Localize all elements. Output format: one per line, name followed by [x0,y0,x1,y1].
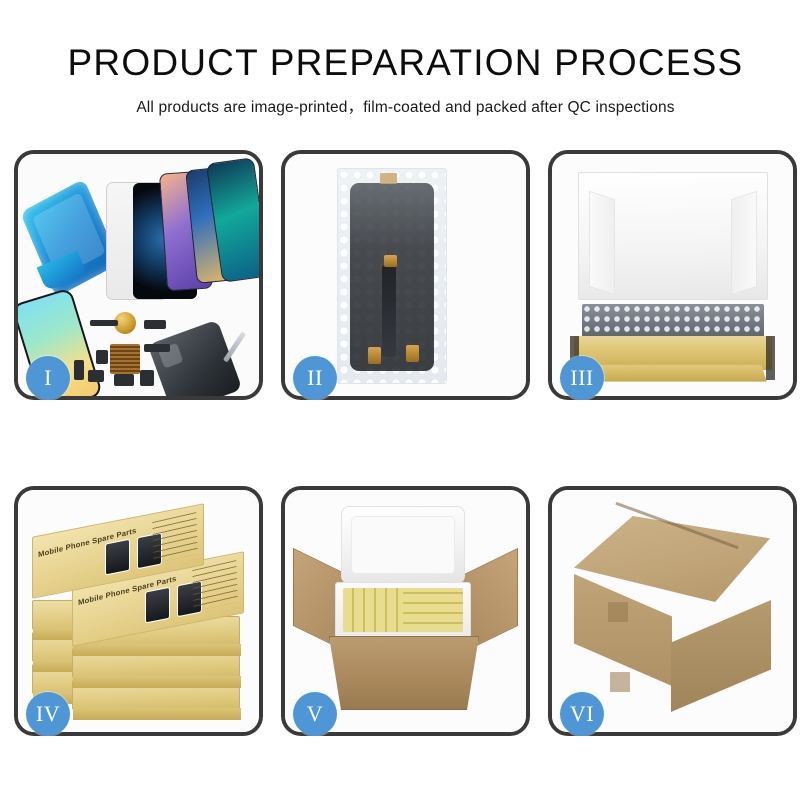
bag-seal-tape-icon [380,173,397,184]
sim-tray-icon [140,370,154,386]
process-step-grid: I II [14,150,797,736]
styrofoam-lid-icon [341,506,465,584]
process-step-5: V [281,486,530,736]
bubble-wrap-contents-icon [582,304,764,338]
flex-cable-part-icon [144,320,166,329]
lid-flap-left-icon [589,191,615,295]
small-bracket-icon [74,360,84,380]
kraft-box-front-icon [579,365,766,382]
box-side-face [73,708,241,720]
box-side-face [73,644,241,656]
carton-tape-upper-icon [608,602,628,622]
box-label-spec-lines-back [152,512,197,564]
box-corner-right-icon [766,336,775,380]
step-badge-4: IV [26,692,70,736]
gold-connector-top-icon [384,255,397,267]
lid-flap-right-icon [731,191,757,295]
earpiece-part-icon [90,320,118,326]
page-subtitle: All products are image-printed，film-coat… [0,95,811,117]
box-side-face [73,676,241,688]
process-step-2: II [281,150,530,400]
step-badge-3: III [560,356,604,400]
step-badge-2: II [293,356,337,400]
box-label-screen-image-3 [105,539,130,576]
white-box-lid-icon [578,172,768,300]
process-step-4: Mobile Phone Spare Parts Mobile Phone Sp… [14,486,263,736]
gold-connector-left-icon [368,347,381,364]
box-stack: Mobile Phone Spare Parts Mobile Phone Sp… [28,514,256,714]
connector-part-icon [96,350,108,364]
bubble-wrap-bag-icon [337,168,447,384]
page-title: PRODUCT PREPARATION PROCESS [0,44,811,83]
step-badge-5: V [293,692,337,736]
copper-mesh-pad-icon [110,344,140,374]
gold-connector-right-icon [406,345,419,362]
wrapped-flex-cable-icon [382,265,396,357]
antenna-cable-icon [144,344,170,352]
process-step-3: III [548,150,797,400]
box-label-spec-lines-front [192,560,237,612]
carton-front-icon [329,636,479,710]
process-step-1: I [14,150,263,400]
carton-left-face-icon [574,574,672,686]
carton-right-face-icon [671,600,771,712]
carton-tape-lower-icon [610,672,630,692]
vibrator-part-icon [114,374,134,386]
step-badge-1: I [26,356,70,400]
inner-boxes-stack-icon [403,588,463,632]
process-step-6: VI [548,486,797,736]
product-preparation-infographic: PRODUCT PREPARATION PROCESS All products… [0,0,811,811]
header: PRODUCT PREPARATION PROCESS All products… [0,0,811,117]
front-glass-panel-icon [106,182,168,300]
box-label-screen-image-1 [145,587,170,624]
step-badge-6: VI [560,692,604,736]
camera-module-icon [88,370,104,382]
